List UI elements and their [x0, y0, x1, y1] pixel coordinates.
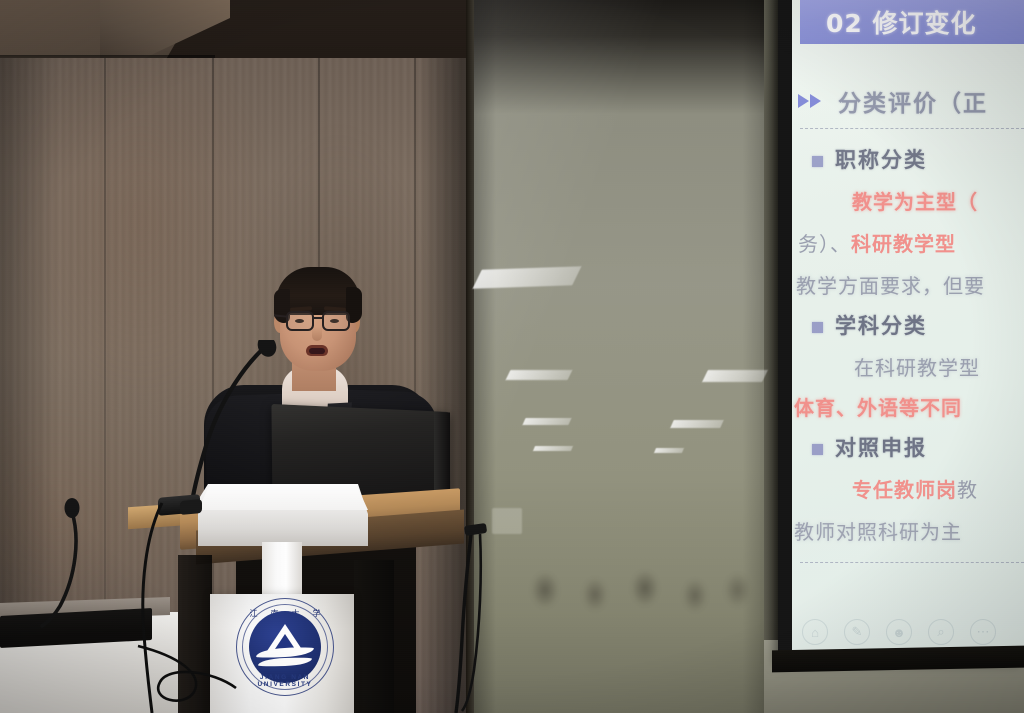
- university-logo: 江南大学 JIANG NAN UNIVERSITY: [236, 598, 334, 696]
- ceiling-light-reflection: [506, 370, 573, 380]
- podium-right-shadow: [354, 560, 394, 713]
- more-icon: ⋯: [970, 619, 996, 645]
- ceiling-light-reflection: [654, 448, 684, 453]
- slide-line: 体育、外语等不同: [794, 392, 962, 421]
- slide-heading-text: 分类评价（正: [838, 84, 988, 118]
- slide-line-text-grey: 务）、: [798, 232, 851, 256]
- ceiling-light-reflection: [670, 420, 724, 428]
- power-cable-secondary: [440, 530, 740, 713]
- photo-scene: 02 修订变化 分类评价（正 职称分类 教学为主型（: [0, 0, 1024, 713]
- glasses-lens-right: [322, 311, 350, 331]
- logo-english-name: JIANG NAN UNIVERSITY: [236, 674, 334, 688]
- slide-divider: [800, 128, 1024, 129]
- slide-bullet-line: 职称分类: [812, 144, 927, 174]
- slide-line-text: 学科分类: [835, 314, 927, 338]
- slide-line: 教师对照科研为主: [794, 516, 962, 545]
- home-icon: ⌂: [802, 619, 828, 645]
- floor-cable: [108, 640, 238, 713]
- slide-line: 教学方面要求，但要: [796, 270, 985, 299]
- user-icon: ☻: [886, 619, 912, 645]
- slide-footer-icons: ⌂ ✎ ☻ ⌕ ⋯: [802, 619, 996, 645]
- slide-line-text-grey: 教: [957, 478, 978, 502]
- slide-line: 在科研教学型: [854, 352, 980, 381]
- slide-line: 专任教师岗教: [852, 474, 978, 503]
- square-bullet-icon: [812, 156, 823, 167]
- square-bullet-icon: [812, 444, 823, 455]
- slide-section-heading: 分类评价（正: [796, 84, 988, 118]
- slide-line-text: 教学为主型（: [852, 190, 978, 214]
- speaker-mouth-inner: [309, 348, 325, 354]
- edit-icon: ✎: [844, 619, 870, 645]
- slide-line-text-red: 专任教师岗: [852, 478, 957, 502]
- slide-line: 务）、科研教学型: [798, 228, 956, 257]
- ceiling-light-reflection: [473, 266, 582, 288]
- speaker-nose: [312, 327, 322, 341]
- slide-title: 02 修订变化: [800, 4, 977, 40]
- slide-line-text: 教师对照科研为主: [794, 520, 962, 544]
- search-icon: ⌕: [928, 619, 954, 645]
- slide-body: 分类评价（正 职称分类 教学为主型（ 务）、科研教学型 教学方面要求，但要 学科…: [792, 44, 1024, 650]
- square-bullet-icon: [812, 322, 823, 333]
- slide-bullet-line: 学科分类: [812, 310, 927, 340]
- ceiling-light-reflection: [522, 418, 571, 425]
- side-microphone: [30, 498, 110, 628]
- slide-line: 教学为主型（: [852, 186, 978, 215]
- slide-line-text: 对照申报: [835, 436, 927, 460]
- slide-line-text: 体育、外语等不同: [794, 396, 962, 420]
- slide-line-text: 职称分类: [835, 148, 927, 172]
- slide-title-bar: 02 修订变化: [800, 0, 1024, 44]
- slide-bullet-line: 对照申报: [812, 432, 927, 462]
- ceiling-light-reflection: [702, 370, 768, 382]
- glasses-lens-left: [286, 311, 314, 331]
- glasses-bridge: [313, 317, 323, 319]
- ceiling-light-reflection: [533, 446, 573, 451]
- slide-line-text-red: 科研教学型: [851, 232, 956, 256]
- projection-screen: 02 修订变化 分类评价（正 职称分类 教学为主型（: [792, 0, 1024, 650]
- slide-line-text: 在科研教学型: [854, 356, 980, 380]
- slide-line-text: 教学方面要求，但要: [796, 274, 985, 298]
- double-chevron-right-icon: [796, 92, 830, 110]
- slide-footer-divider: [800, 562, 1024, 563]
